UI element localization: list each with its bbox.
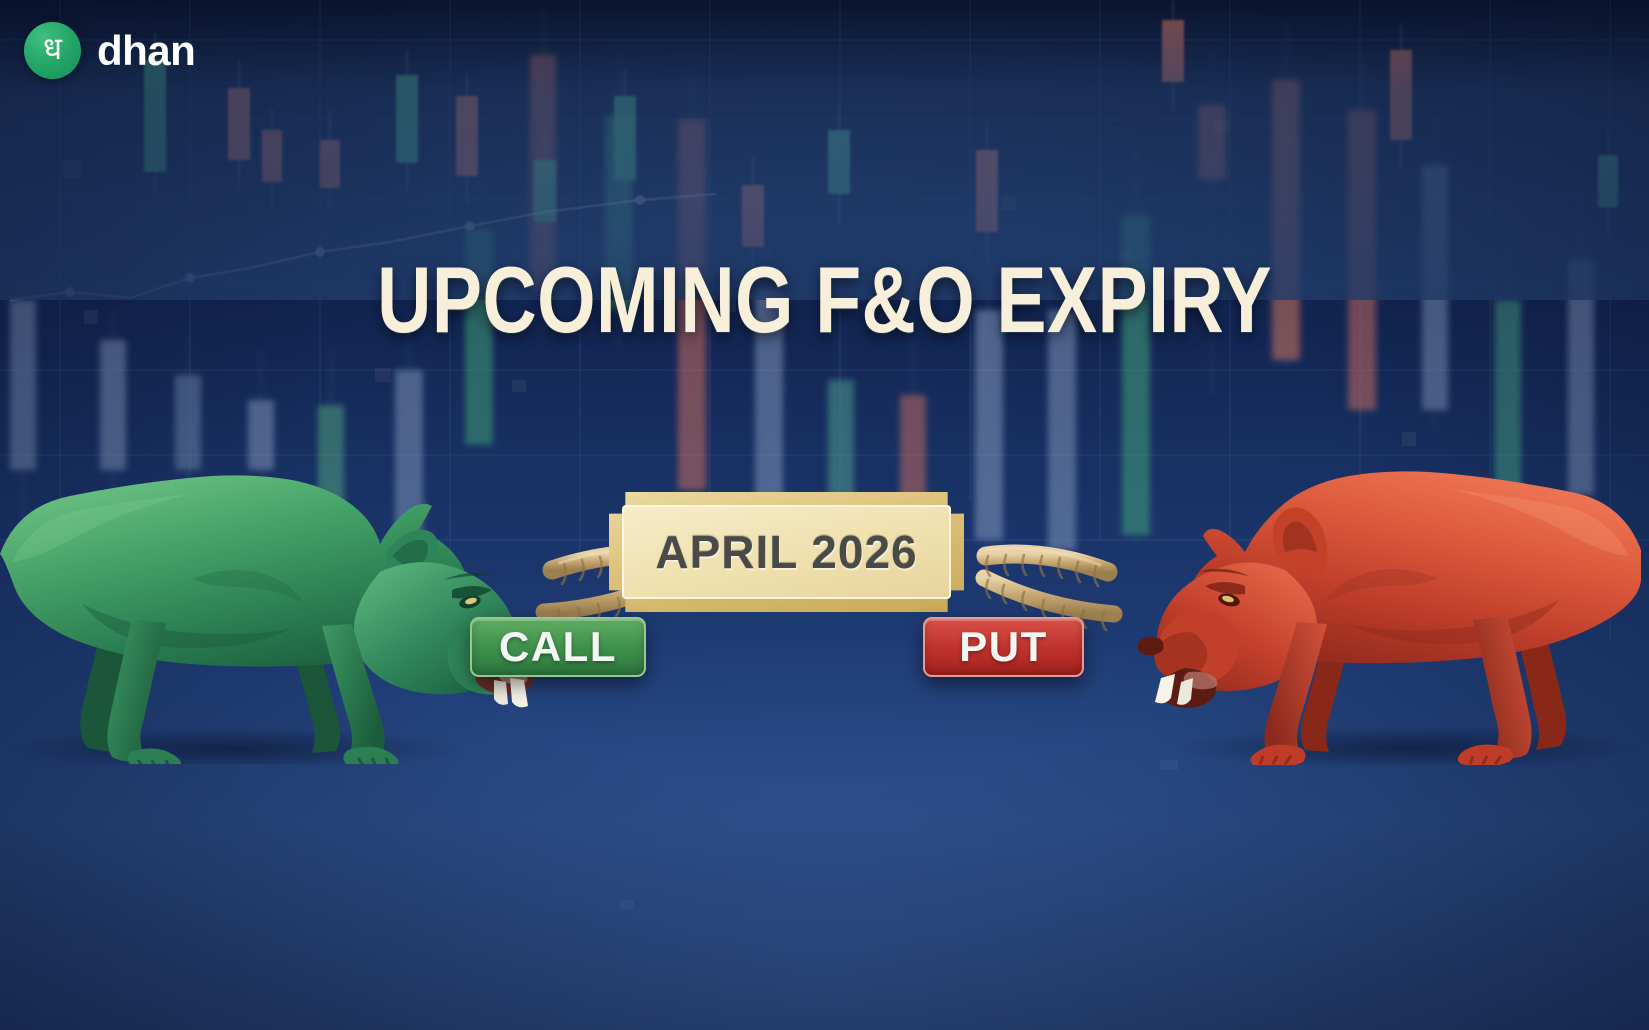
call-button[interactable]: CALL	[470, 617, 646, 677]
green-bull-facing-right-icon	[0, 404, 542, 764]
page-title: UPCOMING F&O EXPIRY	[165, 246, 1484, 354]
dhan-devanagari-dha-logo-icon: ध	[24, 22, 81, 79]
red-bear-facing-left-icon	[1089, 400, 1649, 765]
brand-wordmark: dhan	[97, 27, 195, 75]
expiry-month-plaque: APRIL 2026	[609, 492, 964, 612]
put-button[interactable]: PUT	[923, 617, 1084, 677]
dhan-logo[interactable]: ध dhan	[24, 22, 195, 79]
plaque-panel: APRIL 2026	[622, 505, 951, 599]
expiry-month-label: APRIL 2026	[655, 525, 917, 579]
promo-banner: ध dhan UPCOMING F&O EXPIRY	[0, 0, 1649, 1030]
